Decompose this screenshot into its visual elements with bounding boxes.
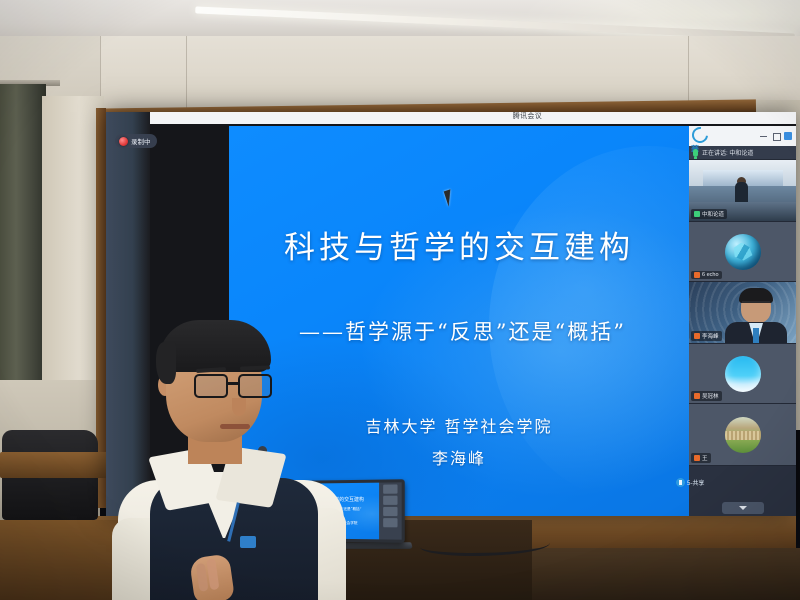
- window-curtain: [0, 84, 46, 384]
- microphone-icon: [693, 149, 698, 157]
- presenter-glasses: [194, 374, 272, 398]
- participant-name: 中和论道: [702, 210, 724, 218]
- participant-label: 吴冠林: [691, 391, 722, 401]
- participant-tile[interactable]: 李海峰: [689, 282, 796, 344]
- mic-muted-icon: [694, 333, 700, 339]
- participant-name: 6 echo: [702, 272, 719, 278]
- presenter-badge: [240, 536, 256, 548]
- participant-name: 吴冠林: [702, 392, 719, 400]
- active-speaker-bar: 正在讲话: 中和论道: [689, 146, 796, 160]
- glasses-lens-right: [238, 374, 272, 398]
- side-desk: [0, 452, 120, 478]
- presenter: [104, 312, 354, 600]
- mic-status-icon: [694, 211, 700, 217]
- participant-tile[interactable]: 6 echo: [689, 222, 796, 282]
- participant-name: 李海峰: [702, 332, 719, 340]
- meeting-titlebar: 腾讯会议: [150, 112, 796, 124]
- laptop-sidebar-mirror: [379, 482, 402, 539]
- chevron-down-icon: [739, 506, 747, 510]
- video-person-glasses: [742, 301, 770, 308]
- glasses-bridge: [228, 382, 238, 385]
- presenter-finger: [206, 558, 219, 590]
- presenter-sideburn: [156, 342, 176, 384]
- expand-participants-button[interactable]: [722, 502, 764, 514]
- meeting-app-title: 腾讯会议: [513, 112, 542, 123]
- recording-dot-icon: [119, 137, 128, 146]
- screen-share-indicator[interactable]: 5-共享: [676, 478, 704, 487]
- video-person-tie: [753, 328, 759, 344]
- participant-name: 王: [702, 454, 708, 462]
- participant-label: 6 echo: [691, 271, 722, 279]
- recording-label: 录制中: [131, 136, 151, 146]
- participant-tile[interactable]: 王: [689, 404, 796, 466]
- wall-seam: [186, 36, 187, 116]
- mic-muted-icon: [694, 272, 700, 278]
- conference-room: 腾讯会议 录制中 科技与哲学的交互建构 ——哲学源于“反思”还是“概括” 吉林大…: [0, 0, 800, 600]
- participant-tile[interactable]: 吴冠林: [689, 344, 796, 404]
- recording-badge[interactable]: 录制中: [115, 134, 157, 148]
- presenter-hand: [189, 553, 235, 600]
- mic-muted-icon: [694, 393, 700, 399]
- share-icon: [676, 478, 685, 487]
- slide-subtitle: ——哲学源于“反思”还是“概括”: [299, 316, 689, 346]
- layout-pane-icon[interactable]: [784, 132, 792, 140]
- presenter-nose: [232, 398, 246, 416]
- mouse-cursor-icon: [444, 189, 456, 206]
- avatar: [725, 356, 761, 392]
- slide-title: 科技与哲学的交互建构: [229, 222, 689, 267]
- participant-label: 中和论道: [691, 209, 727, 219]
- wall-left-side: [42, 96, 104, 426]
- participant-label: 王: [691, 453, 711, 463]
- presenter-mouth: [220, 424, 250, 429]
- meeting-participant-sidebar[interactable]: 華 正在讲话: 中和论道 中和论道: [689, 126, 796, 516]
- participant-label: 李海峰: [691, 331, 722, 341]
- participant-tile[interactable]: 中和论道: [689, 160, 796, 222]
- avatar: [725, 417, 761, 453]
- maximize-icon[interactable]: [772, 133, 779, 140]
- avatar: [725, 234, 761, 270]
- glasses-lens-left: [194, 374, 228, 398]
- share-label: 5-共享: [687, 478, 704, 487]
- mic-muted-icon: [694, 455, 700, 461]
- minimize-icon[interactable]: [760, 133, 767, 140]
- active-speaker-label: 正在讲话: 中和论道: [702, 148, 753, 157]
